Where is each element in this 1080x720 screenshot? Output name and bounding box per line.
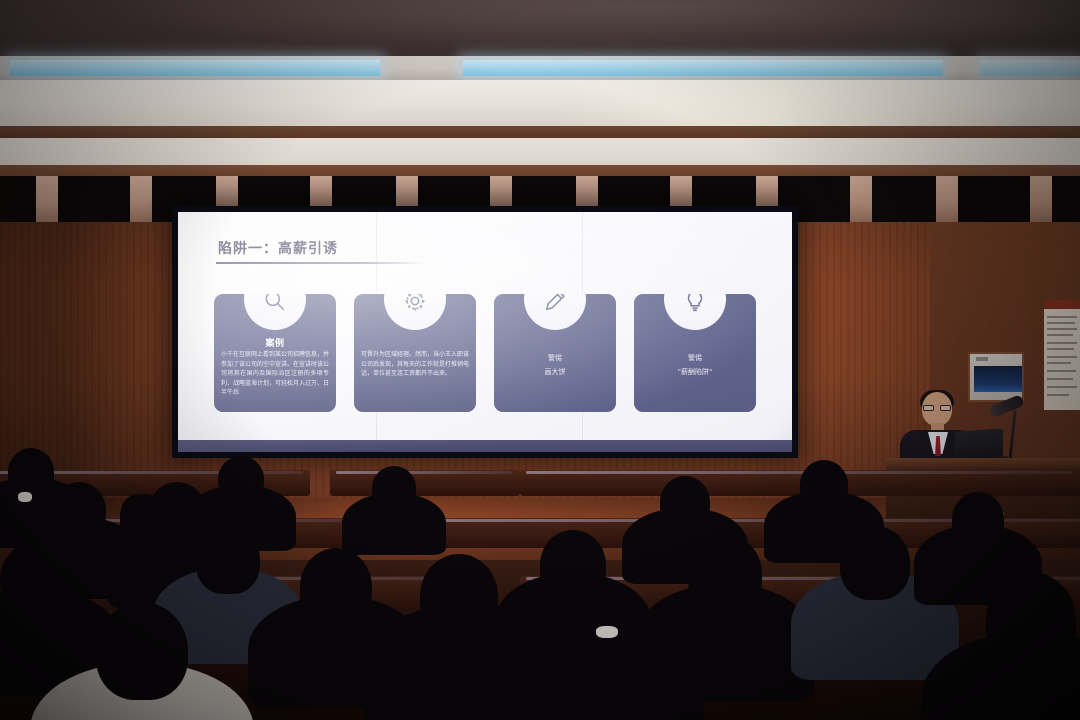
ceiling-light-strip: [463, 60, 943, 76]
card-body-text: 警惕 "薪酬陷阱": [641, 352, 749, 378]
control-panel-logo: [976, 357, 988, 361]
audience-head: [0, 542, 70, 616]
wall-control-panel[interactable]: [968, 352, 1024, 402]
audience-head: [840, 526, 910, 600]
gear-icon: [402, 294, 428, 314]
poster-text-line: [1047, 342, 1077, 344]
audience-head: [8, 448, 54, 496]
poster-text-line: [1047, 322, 1075, 324]
card-body-text: 警惕 画大饼: [501, 352, 609, 378]
card-body-text: 小千在互联网上看到某公司招聘信息，并参加了该公司的空中宣讲。在宣讲时该公司将其在…: [221, 350, 329, 398]
ceiling-baffle: [958, 176, 1030, 222]
audience-ponytail: [1000, 616, 1080, 720]
audience-head: [300, 548, 372, 626]
audience-head: [96, 602, 188, 700]
ceiling-pillar: [936, 176, 958, 222]
ceiling-pillar: [850, 176, 872, 222]
ceiling-soffit: [0, 80, 1080, 128]
audience-head: [218, 456, 264, 502]
card-body-subline: "薪酬陷阱": [641, 366, 749, 378]
hair-clip: [18, 492, 32, 502]
desk-edge-highlight: [526, 471, 1072, 474]
slide-card[interactable]: 可晋升为区域经理。然而，当小王入职该公司后发现，其每天的工作就是打推销电话，单位…: [354, 294, 476, 412]
presentation-slide: 陷阱一：高薪引诱 案例 小千在互联网上看到某公司招聘信息，并参加了该公司的空中宣…: [178, 212, 792, 452]
poster-text-line: [1047, 362, 1071, 364]
ceiling-pillar: [130, 176, 152, 222]
ceiling-pillar: [1030, 176, 1052, 222]
projection-screen-frame: 陷阱一：高薪引诱 案例 小千在互联网上看到某公司招聘信息，并参加了该公司的空中宣…: [172, 206, 798, 458]
audience-head: [52, 482, 106, 538]
poster-text-line: [1047, 370, 1076, 372]
ceiling-slab: [0, 0, 1080, 58]
poster-text-line: [1047, 348, 1074, 350]
poster-text-line: [1047, 356, 1077, 358]
poster-header: [1044, 300, 1080, 309]
ceiling-pillar: [36, 176, 58, 222]
ceiling-baffle: [1052, 176, 1080, 222]
poster-text-line: [1047, 378, 1073, 380]
ceiling-light-strip: [980, 60, 1080, 76]
card-body-text: 可晋升为区域经理。然而，当小王入职该公司后发现，其每天的工作就是打推销电话，单位…: [361, 350, 469, 379]
poster-text-line: [1047, 394, 1069, 396]
audience-head: [800, 460, 848, 510]
lightbulb-icon: [682, 294, 708, 314]
card-body-line: 警惕: [688, 354, 702, 362]
hair-tie: [596, 626, 618, 638]
ceiling-light-strip: [10, 60, 380, 76]
card-body-subline: 画大饼: [501, 366, 609, 378]
audience-head: [688, 534, 762, 614]
slide-card[interactable]: 案例 小千在互联网上看到某公司招聘信息，并参加了该公司的空中宣讲。在宣讲时该公司…: [214, 294, 336, 412]
poster-text-line: [1047, 328, 1077, 330]
card-heading: 案例: [214, 336, 336, 349]
ceiling-baffle: [0, 176, 36, 222]
audience-head: [372, 466, 416, 510]
lecture-hall-photo: 陷阱一：高薪引诱 案例 小千在互联网上看到某公司招聘信息，并参加了该公司的空中宣…: [0, 0, 1080, 720]
ceiling-baffle: [872, 176, 936, 222]
audience-head: [660, 476, 710, 528]
desk-edge-highlight: [336, 471, 512, 474]
audience-ponytail: [576, 626, 650, 720]
poster-text-line: [1047, 334, 1073, 336]
slide-card-row: 案例 小千在互联网上看到某公司招聘信息，并参加了该公司的空中宣讲。在宣讲时该公司…: [214, 282, 760, 412]
control-panel-screen[interactable]: [974, 366, 1022, 392]
glasses-icon: [923, 405, 951, 411]
slide-card[interactable]: 警惕 "薪酬陷阱": [634, 294, 756, 412]
slide-title: 陷阱一：高薪引诱: [218, 238, 338, 258]
poster-text-line: [1047, 316, 1077, 318]
magnifier-icon: [262, 294, 288, 314]
audience-head: [196, 526, 260, 594]
audience-ponytail: [120, 494, 164, 550]
wall-poster: [1044, 300, 1080, 410]
audience-head: [952, 492, 1004, 546]
pencil-icon: [542, 294, 568, 314]
audience-area: [0, 430, 1080, 720]
card-body-line: 警惕: [548, 354, 562, 362]
slide-card[interactable]: 警惕 画大饼: [494, 294, 616, 412]
poster-text-line: [1047, 386, 1077, 388]
audience-ponytail: [466, 606, 528, 702]
ceiling-beam: [0, 126, 1080, 138]
ceiling-baffle: [58, 176, 130, 222]
projection-screen: 陷阱一：高薪引诱 案例 小千在互联网上看到某公司招聘信息，并参加了该公司的空中宣…: [178, 212, 792, 452]
slide-title-underline: [216, 262, 426, 264]
